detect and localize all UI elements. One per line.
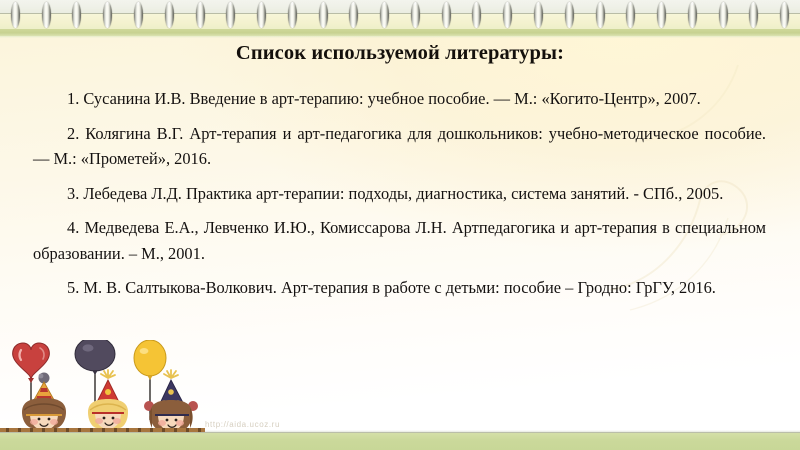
spiral-ring-icon — [719, 2, 728, 28]
spiral-ring-icon — [442, 2, 451, 28]
spiral-ring-icon — [411, 2, 420, 28]
spiral-ring-icon — [657, 2, 666, 28]
reference-item: 3. Лебедева Л.Д. Практика арт-терапии: п… — [33, 181, 766, 207]
spiral-ring-icon — [688, 2, 697, 28]
spiral-ring-icon — [565, 2, 574, 28]
reference-item: 4. Медведева Е.А., Левченко И.Ю., Комисс… — [33, 215, 766, 266]
spiral-ring-icon — [472, 2, 481, 28]
spiral-ring-icon — [626, 2, 635, 28]
page-title: Список используемой литературы: — [0, 42, 800, 65]
reference-item: 1. Сусанина И.В. Введение в арт-терапию:… — [33, 86, 766, 112]
spiral-ring-icon — [319, 2, 328, 28]
spiral-ring-icon — [288, 2, 297, 28]
spiral-ring-icon — [503, 2, 512, 28]
spiral-ring-icon — [72, 2, 81, 28]
spiral-ring-icon — [596, 2, 605, 28]
reference-item: 2. Колягина В.Г. Арт-терапия и арт-педаг… — [33, 121, 766, 172]
slide-canvas: Список используемой литературы: 1. Сусан… — [0, 0, 800, 450]
spiral-ring-icon — [257, 2, 266, 28]
spiral-ring-icon — [380, 2, 389, 28]
spiral-ring-icon — [749, 2, 758, 28]
spiral-ring-icon — [349, 2, 358, 28]
spiral-ring-icon — [42, 2, 51, 28]
reference-list: 1. Сусанина И.В. Введение в арт-терапию:… — [33, 86, 766, 301]
binder-green-shadow — [0, 36, 800, 38]
spiral-ring-icon — [780, 2, 789, 28]
spiral-ring-icon — [11, 2, 20, 28]
spiral-binding — [0, 0, 800, 36]
spiral-ring-icon — [103, 2, 112, 28]
spiral-rings-group — [0, 0, 800, 30]
spiral-ring-icon — [134, 2, 143, 28]
binder-green-strip — [0, 29, 800, 36]
spiral-ring-icon — [534, 2, 543, 28]
spiral-ring-icon — [226, 2, 235, 28]
spiral-ring-icon — [165, 2, 174, 28]
reference-item: 5. М. В. Салтыкова-Волкович. Арт-терапия… — [33, 275, 766, 301]
spiral-ring-icon — [196, 2, 205, 28]
three-children-with-balloons-icon — [0, 340, 240, 436]
